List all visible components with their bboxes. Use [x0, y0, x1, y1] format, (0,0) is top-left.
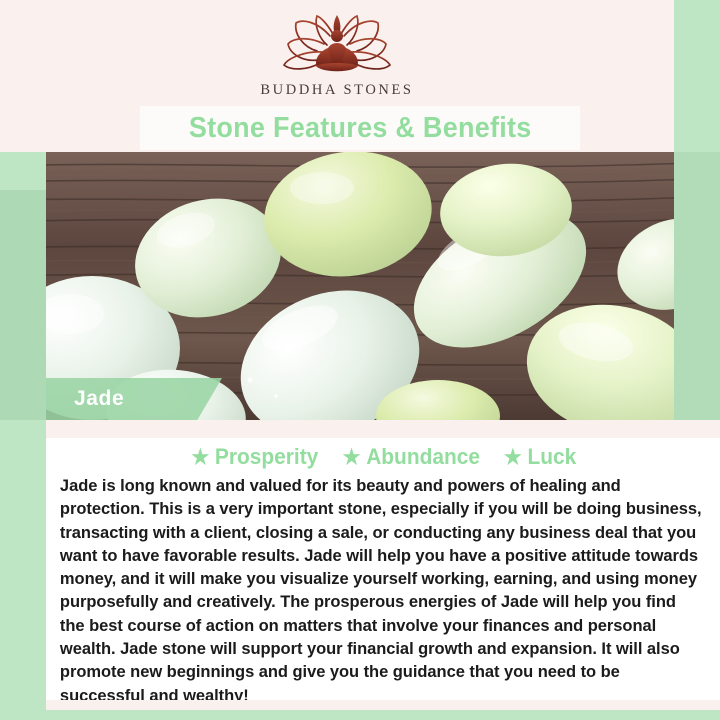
star-icon: ★ — [343, 447, 361, 468]
benefit-item-abundance: ★ Abundance — [343, 444, 480, 470]
benefit-item-luck: ★ Luck — [504, 444, 576, 470]
benefit-label: Luck — [528, 444, 577, 470]
page-title: Stone Features & Benefits — [189, 112, 532, 145]
star-icon: ★ — [504, 447, 522, 468]
content-panel: ★ Prosperity ★ Abundance ★ Luck Jade is … — [46, 438, 720, 700]
benefit-label: Prosperity — [215, 444, 318, 470]
benefit-item-prosperity: ★ Prosperity — [191, 444, 318, 470]
photo-bottom-separator — [46, 420, 720, 438]
benefits-row: ★ Prosperity ★ Abundance ★ Luck — [46, 438, 720, 470]
infographic-page: BUDDHA STONES Stone Features & Benefits — [0, 0, 720, 720]
photo-right-overlay-rail — [674, 152, 720, 420]
photo-left-overlay-rail — [0, 190, 46, 420]
stone-description: Jade is long known and valued for its be… — [46, 470, 717, 707]
lotus-meditation-icon — [274, 14, 400, 76]
benefit-label: Abundance — [367, 444, 481, 470]
star-icon: ★ — [191, 447, 209, 468]
brand-logo: BUDDHA STONES — [0, 14, 674, 99]
bottom-separator — [46, 700, 720, 710]
title-band: Stone Features & Benefits — [140, 106, 580, 150]
stone-name-label: Jade — [74, 387, 124, 411]
brand-name: BUDDHA STONES — [260, 82, 413, 99]
stone-name-banner: Jade — [46, 378, 222, 420]
